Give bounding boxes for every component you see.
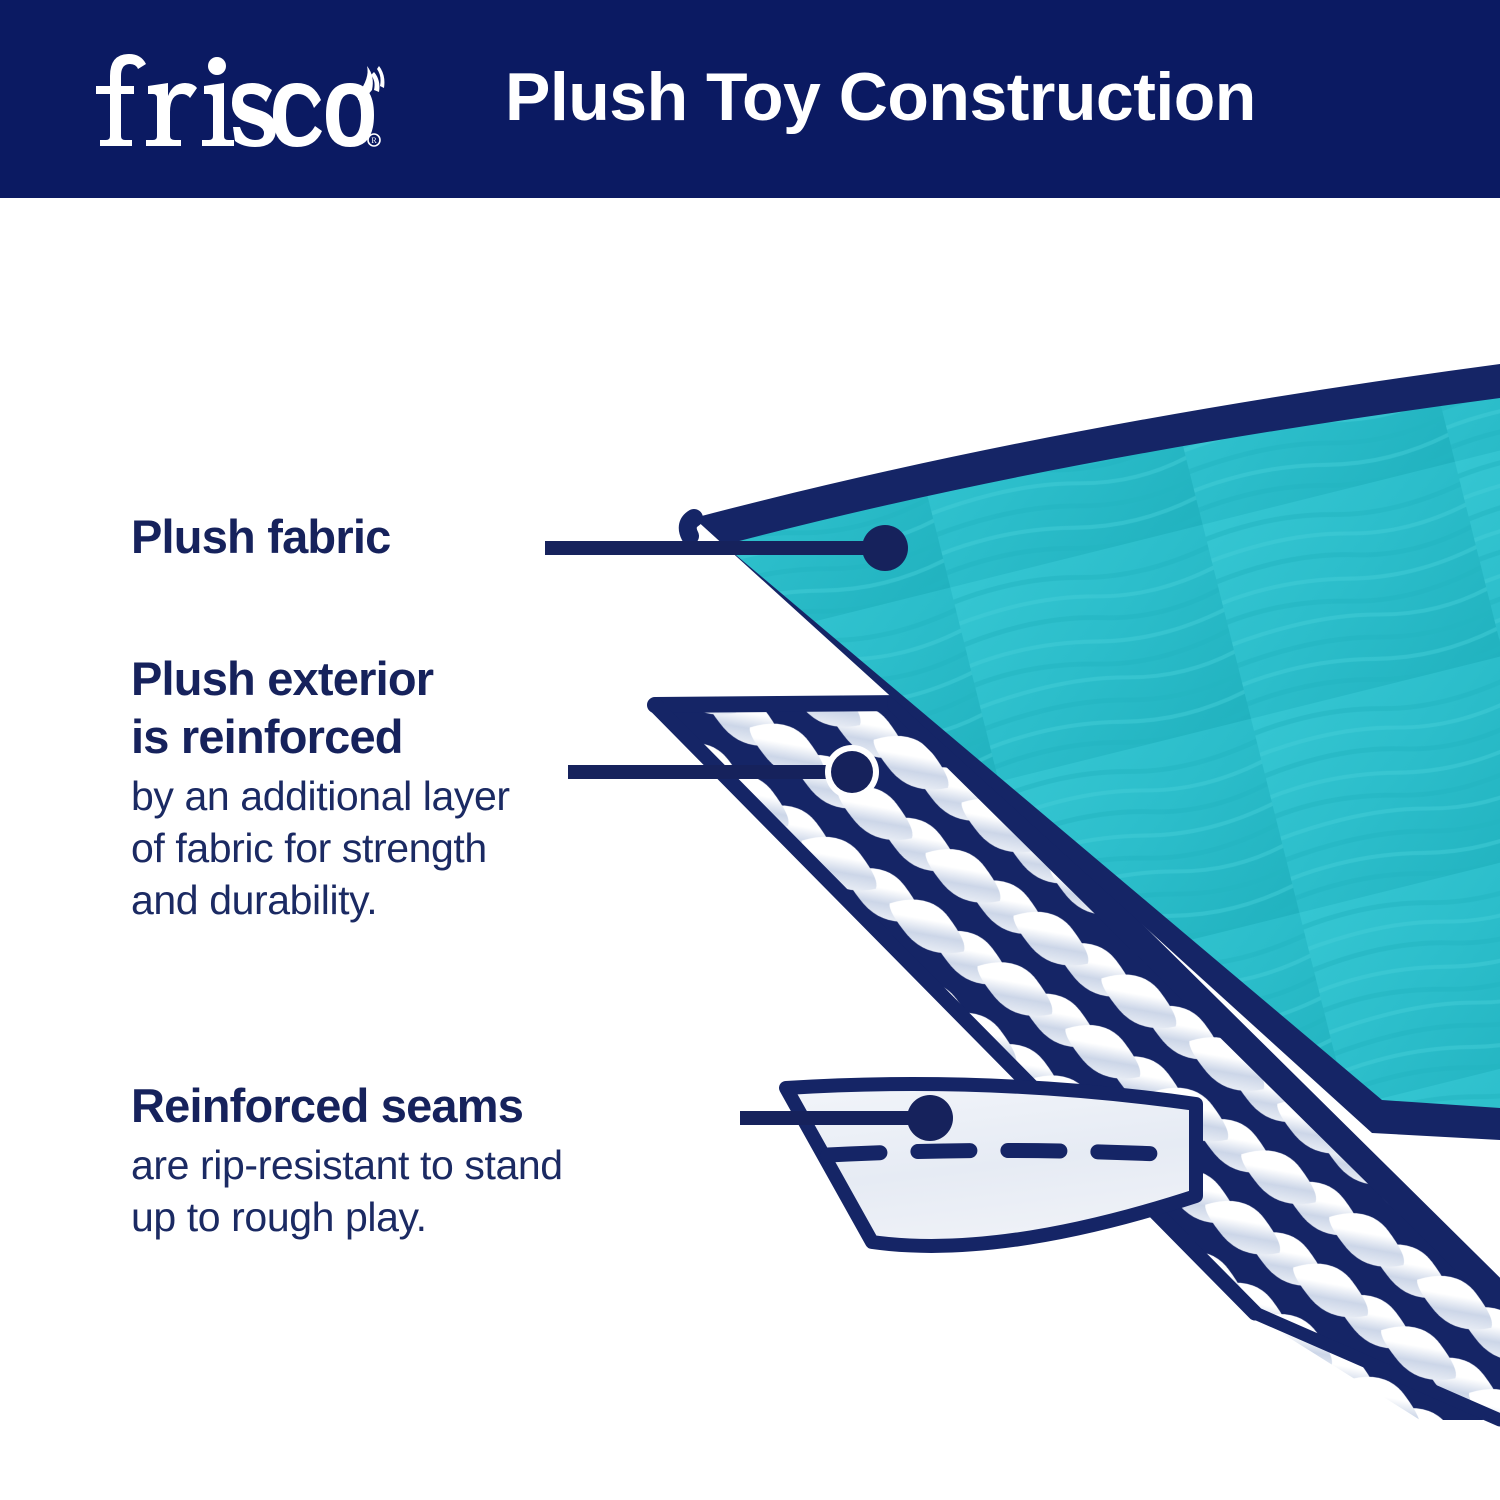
callout-reinforced-seams-heading: Reinforced seams bbox=[131, 1077, 563, 1135]
callout-dot-reinforced-seams bbox=[907, 1095, 953, 1141]
callout-reinforced-seams: Reinforced seams are rip-resistant to st… bbox=[131, 1077, 563, 1243]
callout-plush-exterior: Plush exterior is reinforced by an addit… bbox=[131, 650, 510, 926]
header-bar: R Plush Toy Construction bbox=[0, 0, 1500, 198]
callout-dot-plush-exterior bbox=[831, 751, 873, 793]
svg-text:R: R bbox=[371, 136, 377, 145]
callout-reinforced-seams-body: are rip-resistant to stand up to rough p… bbox=[131, 1139, 563, 1243]
registered-trademark-icon: R bbox=[368, 134, 380, 146]
callout-plush-exterior-heading: Plush exterior is reinforced bbox=[131, 650, 510, 766]
callout-plush-fabric: Plush fabric bbox=[131, 508, 390, 570]
callout-plush-exterior-body: by an additional layer of fabric for str… bbox=[131, 770, 510, 926]
stitch-dashes bbox=[828, 1151, 1180, 1156]
frisco-logo: R bbox=[86, 50, 386, 150]
callout-plush-fabric-heading: Plush fabric bbox=[131, 508, 390, 566]
seam-flap bbox=[786, 1084, 1196, 1246]
page-title: Plush Toy Construction bbox=[505, 47, 1405, 147]
callout-dot-plush-fabric bbox=[862, 525, 908, 571]
infographic-page: R Plush Toy Construction bbox=[0, 0, 1500, 1500]
